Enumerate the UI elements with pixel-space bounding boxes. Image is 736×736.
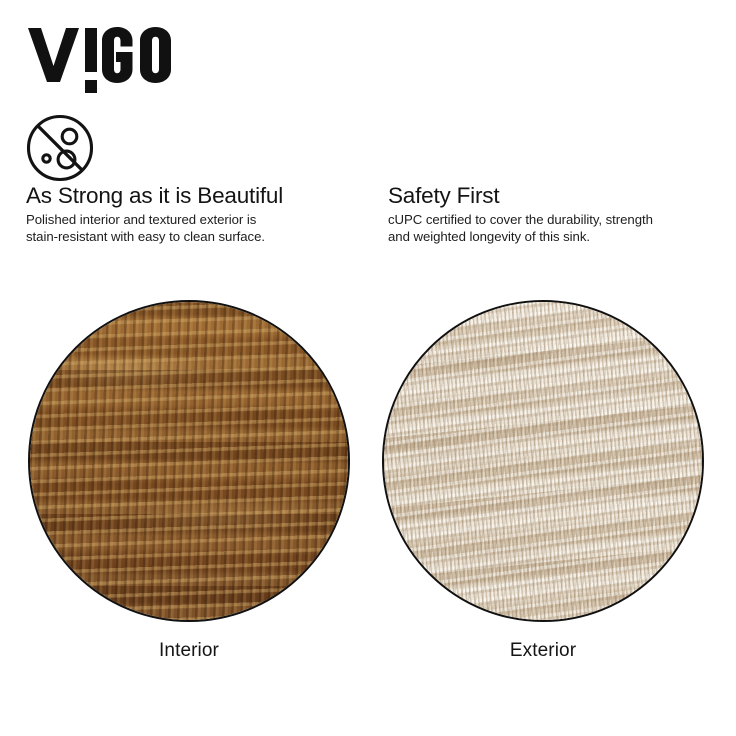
feature-heading-strength: As Strong as it is Beautiful	[26, 183, 376, 209]
feature-body-line: and weighted longevity of this sink.	[388, 229, 718, 246]
swatch-exterior	[382, 300, 704, 622]
feature-heading-safety: Safety First	[388, 183, 718, 209]
feature-columns: As Strong as it is Beautiful Polished in…	[0, 183, 736, 253]
feature-body-strength: Polished interior and textured exterior …	[26, 212, 376, 245]
feature-column-safety: Safety First cUPC certified to cover the…	[388, 183, 718, 245]
feature-body-line: stain-resistant with easy to clean surfa…	[26, 229, 376, 246]
vigo-wordmark-icon	[28, 26, 188, 94]
swatch-interior-texture	[28, 300, 350, 622]
feature-body-line: cUPC certified to cover the durability, …	[388, 212, 718, 229]
feature-icon-wrapper	[25, 113, 95, 183]
feature-body-safety: cUPC certified to cover the durability, …	[388, 212, 718, 245]
swatch-exterior-texture	[382, 300, 704, 622]
swatch-caption-interior: Interior	[28, 640, 350, 662]
stain-resistant-no-drops-icon	[25, 113, 95, 183]
swatch-caption-exterior: Exterior	[382, 640, 704, 662]
feature-column-strength: As Strong as it is Beautiful Polished in…	[26, 183, 376, 245]
feature-body-line: Polished interior and textured exterior …	[26, 212, 376, 229]
swatch-interior	[28, 300, 350, 622]
vigo-logo	[28, 26, 188, 94]
